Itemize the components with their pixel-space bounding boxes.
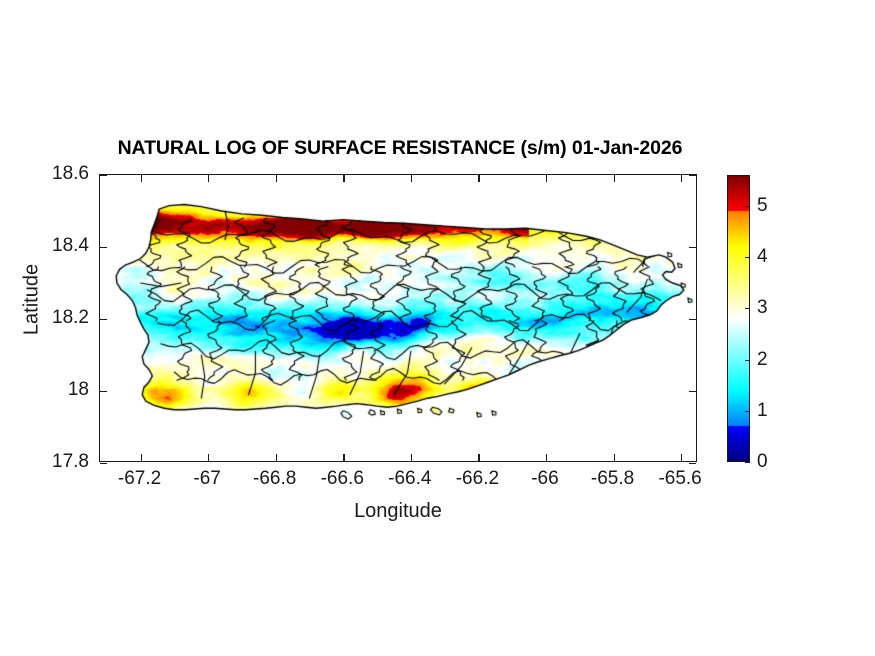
colorbar (727, 175, 750, 462)
colorbar-tick (745, 308, 750, 309)
x-tick (208, 454, 209, 461)
x-tick-label: -66.2 (456, 468, 499, 490)
x-tick-label: -67.2 (118, 468, 161, 490)
y-tick (100, 247, 107, 248)
x-tick (411, 175, 412, 182)
x-tick (141, 454, 142, 461)
colorbar-border (727, 175, 750, 462)
y-tick-label: 18.4 (52, 235, 89, 257)
x-tick (614, 175, 615, 182)
y-tick (689, 319, 696, 320)
x-tick-label: -66 (531, 468, 558, 490)
y-tick (100, 391, 107, 392)
x-tick-label: -66.8 (253, 468, 296, 490)
y-tick (689, 463, 696, 464)
page-title: NATURAL LOG OF SURFACE RESISTANCE (s/m) … (0, 137, 800, 160)
y-tick-label: 18 (68, 379, 89, 401)
x-tick-label: -65.8 (591, 468, 634, 490)
x-tick-label: -66.4 (388, 468, 431, 490)
colorbar-tick-label: 5 (757, 195, 768, 217)
map-axes (99, 174, 697, 462)
colorbar-tick-label: 0 (757, 451, 768, 473)
y-tick (689, 391, 696, 392)
x-tick-label: -67 (193, 468, 220, 490)
x-tick (681, 175, 682, 182)
colorbar-tick-label: 1 (757, 400, 768, 422)
x-tick (343, 454, 344, 461)
x-tick (276, 454, 277, 461)
y-tick-label: 17.8 (52, 451, 89, 473)
figure-root: NATURAL LOG OF SURFACE RESISTANCE (s/m) … (0, 0, 875, 656)
y-tick (100, 175, 107, 176)
x-tick (681, 454, 682, 461)
colorbar-tick-label: 4 (757, 246, 768, 268)
colorbar-tick (745, 257, 750, 258)
x-tick (141, 175, 142, 182)
y-tick (689, 175, 696, 176)
x-tick (546, 175, 547, 182)
x-tick (411, 454, 412, 461)
x-axis-label: Longitude (99, 500, 697, 523)
y-tick (689, 247, 696, 248)
colorbar-tick-label: 3 (757, 297, 768, 319)
x-tick (478, 454, 479, 461)
x-tick (208, 175, 209, 182)
y-tick (100, 319, 107, 320)
y-tick (100, 463, 107, 464)
x-tick-label: -65.6 (658, 468, 701, 490)
x-tick (478, 175, 479, 182)
y-axis-label: Latitude (21, 230, 44, 370)
x-tick (546, 454, 547, 461)
x-tick (343, 175, 344, 182)
surface-resistance-heatmap (100, 175, 698, 463)
y-tick-label: 18.6 (52, 163, 89, 185)
x-tick (276, 175, 277, 182)
colorbar-tick (745, 360, 750, 361)
colorbar-tick (745, 206, 750, 207)
x-tick (614, 454, 615, 461)
colorbar-tick-label: 2 (757, 349, 768, 371)
colorbar-tick (745, 462, 750, 463)
x-tick-label: -66.6 (321, 468, 364, 490)
y-tick-label: 18.2 (52, 307, 89, 329)
colorbar-tick (745, 411, 750, 412)
